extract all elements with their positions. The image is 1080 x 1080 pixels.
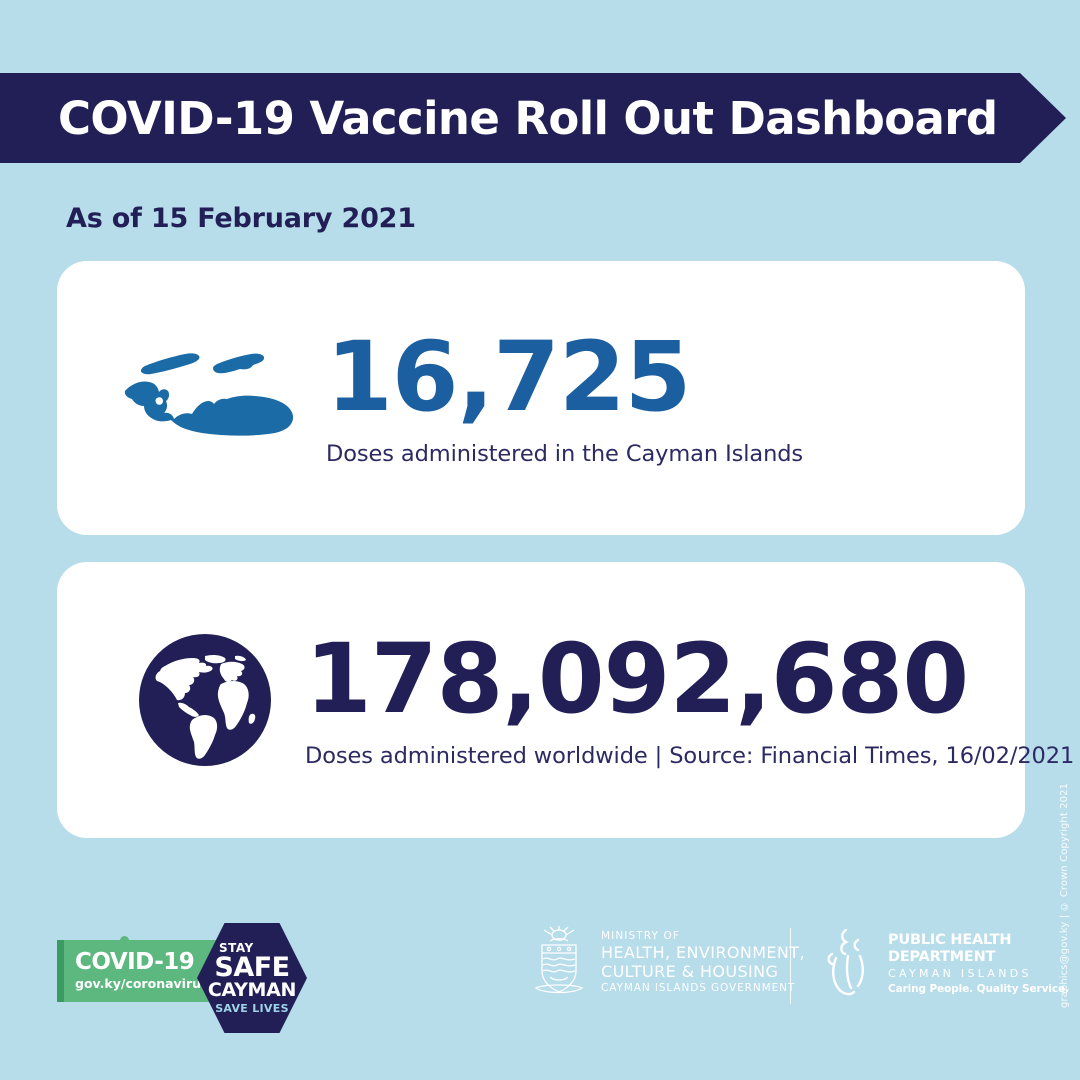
green-bar-accent xyxy=(57,940,64,1002)
stat-card-local: 16,725 Doses administered in the Cayman … xyxy=(57,261,1025,535)
ministry-line-gov: CAYMAN ISLANDS GOVERNMENT xyxy=(601,982,805,996)
public-health-flame-icon xyxy=(820,928,878,1000)
badge-line-save-lives: SAVE LIVES xyxy=(215,1003,289,1014)
cayman-islands-map-icon xyxy=(105,338,320,458)
badge-dot-large-icon xyxy=(120,936,129,945)
badge-line-cayman: CAYMAN xyxy=(208,981,296,1000)
ministry-lockup: MINISTRY OF HEALTH, ENVIRONMENT, CULTURE… xyxy=(530,926,805,1000)
phd-line-1: PUBLIC HEALTH DEPARTMENT xyxy=(888,932,1080,967)
phd-line-2: CAYMAN ISLANDS xyxy=(888,966,1080,983)
badge-dot-small-icon xyxy=(136,944,142,950)
covid-stay-safe-lockup[interactable]: COVID-19 gov.ky/coronavirus STAY SAFE CA… xyxy=(57,923,327,1033)
stat-value-global: 178,092,680 xyxy=(305,631,968,727)
copyright-text: graphics@gov.ky | © Crown Copyright 2021 xyxy=(1059,783,1070,1008)
ministry-line-2: CULTURE & HOUSING xyxy=(601,962,805,981)
stat-caption-global: Doses administered worldwide | Source: F… xyxy=(305,743,1074,769)
ministry-line-1: HEALTH, ENVIRONMENT, xyxy=(601,943,805,962)
as-of-date: As of 15 February 2021 xyxy=(66,203,416,234)
stat-caption-local: Doses administered in the Cayman Islands xyxy=(326,441,803,467)
phd-line-3: Caring People. Quality Service. xyxy=(888,983,1080,997)
header-banner: COVID-19 Vaccine Roll Out Dashboard xyxy=(0,73,1066,163)
public-health-department-lockup: PUBLIC HEALTH DEPARTMENT CAYMAN ISLANDS … xyxy=(820,928,1080,1000)
badge-line-safe: SAFE xyxy=(214,955,289,981)
page-title: COVID-19 Vaccine Roll Out Dashboard xyxy=(0,96,998,141)
stat-value-local: 16,725 xyxy=(326,329,690,425)
footer: COVID-19 gov.ky/coronavirus STAY SAFE CA… xyxy=(0,890,1080,1080)
cayman-coat-of-arms-icon xyxy=(530,926,588,1000)
globe-icon xyxy=(105,630,305,770)
stat-card-global: 178,092,680 Doses administered worldwide… xyxy=(57,562,1025,838)
ministry-line-of: MINISTRY OF xyxy=(601,930,805,943)
footer-divider xyxy=(790,928,791,1004)
